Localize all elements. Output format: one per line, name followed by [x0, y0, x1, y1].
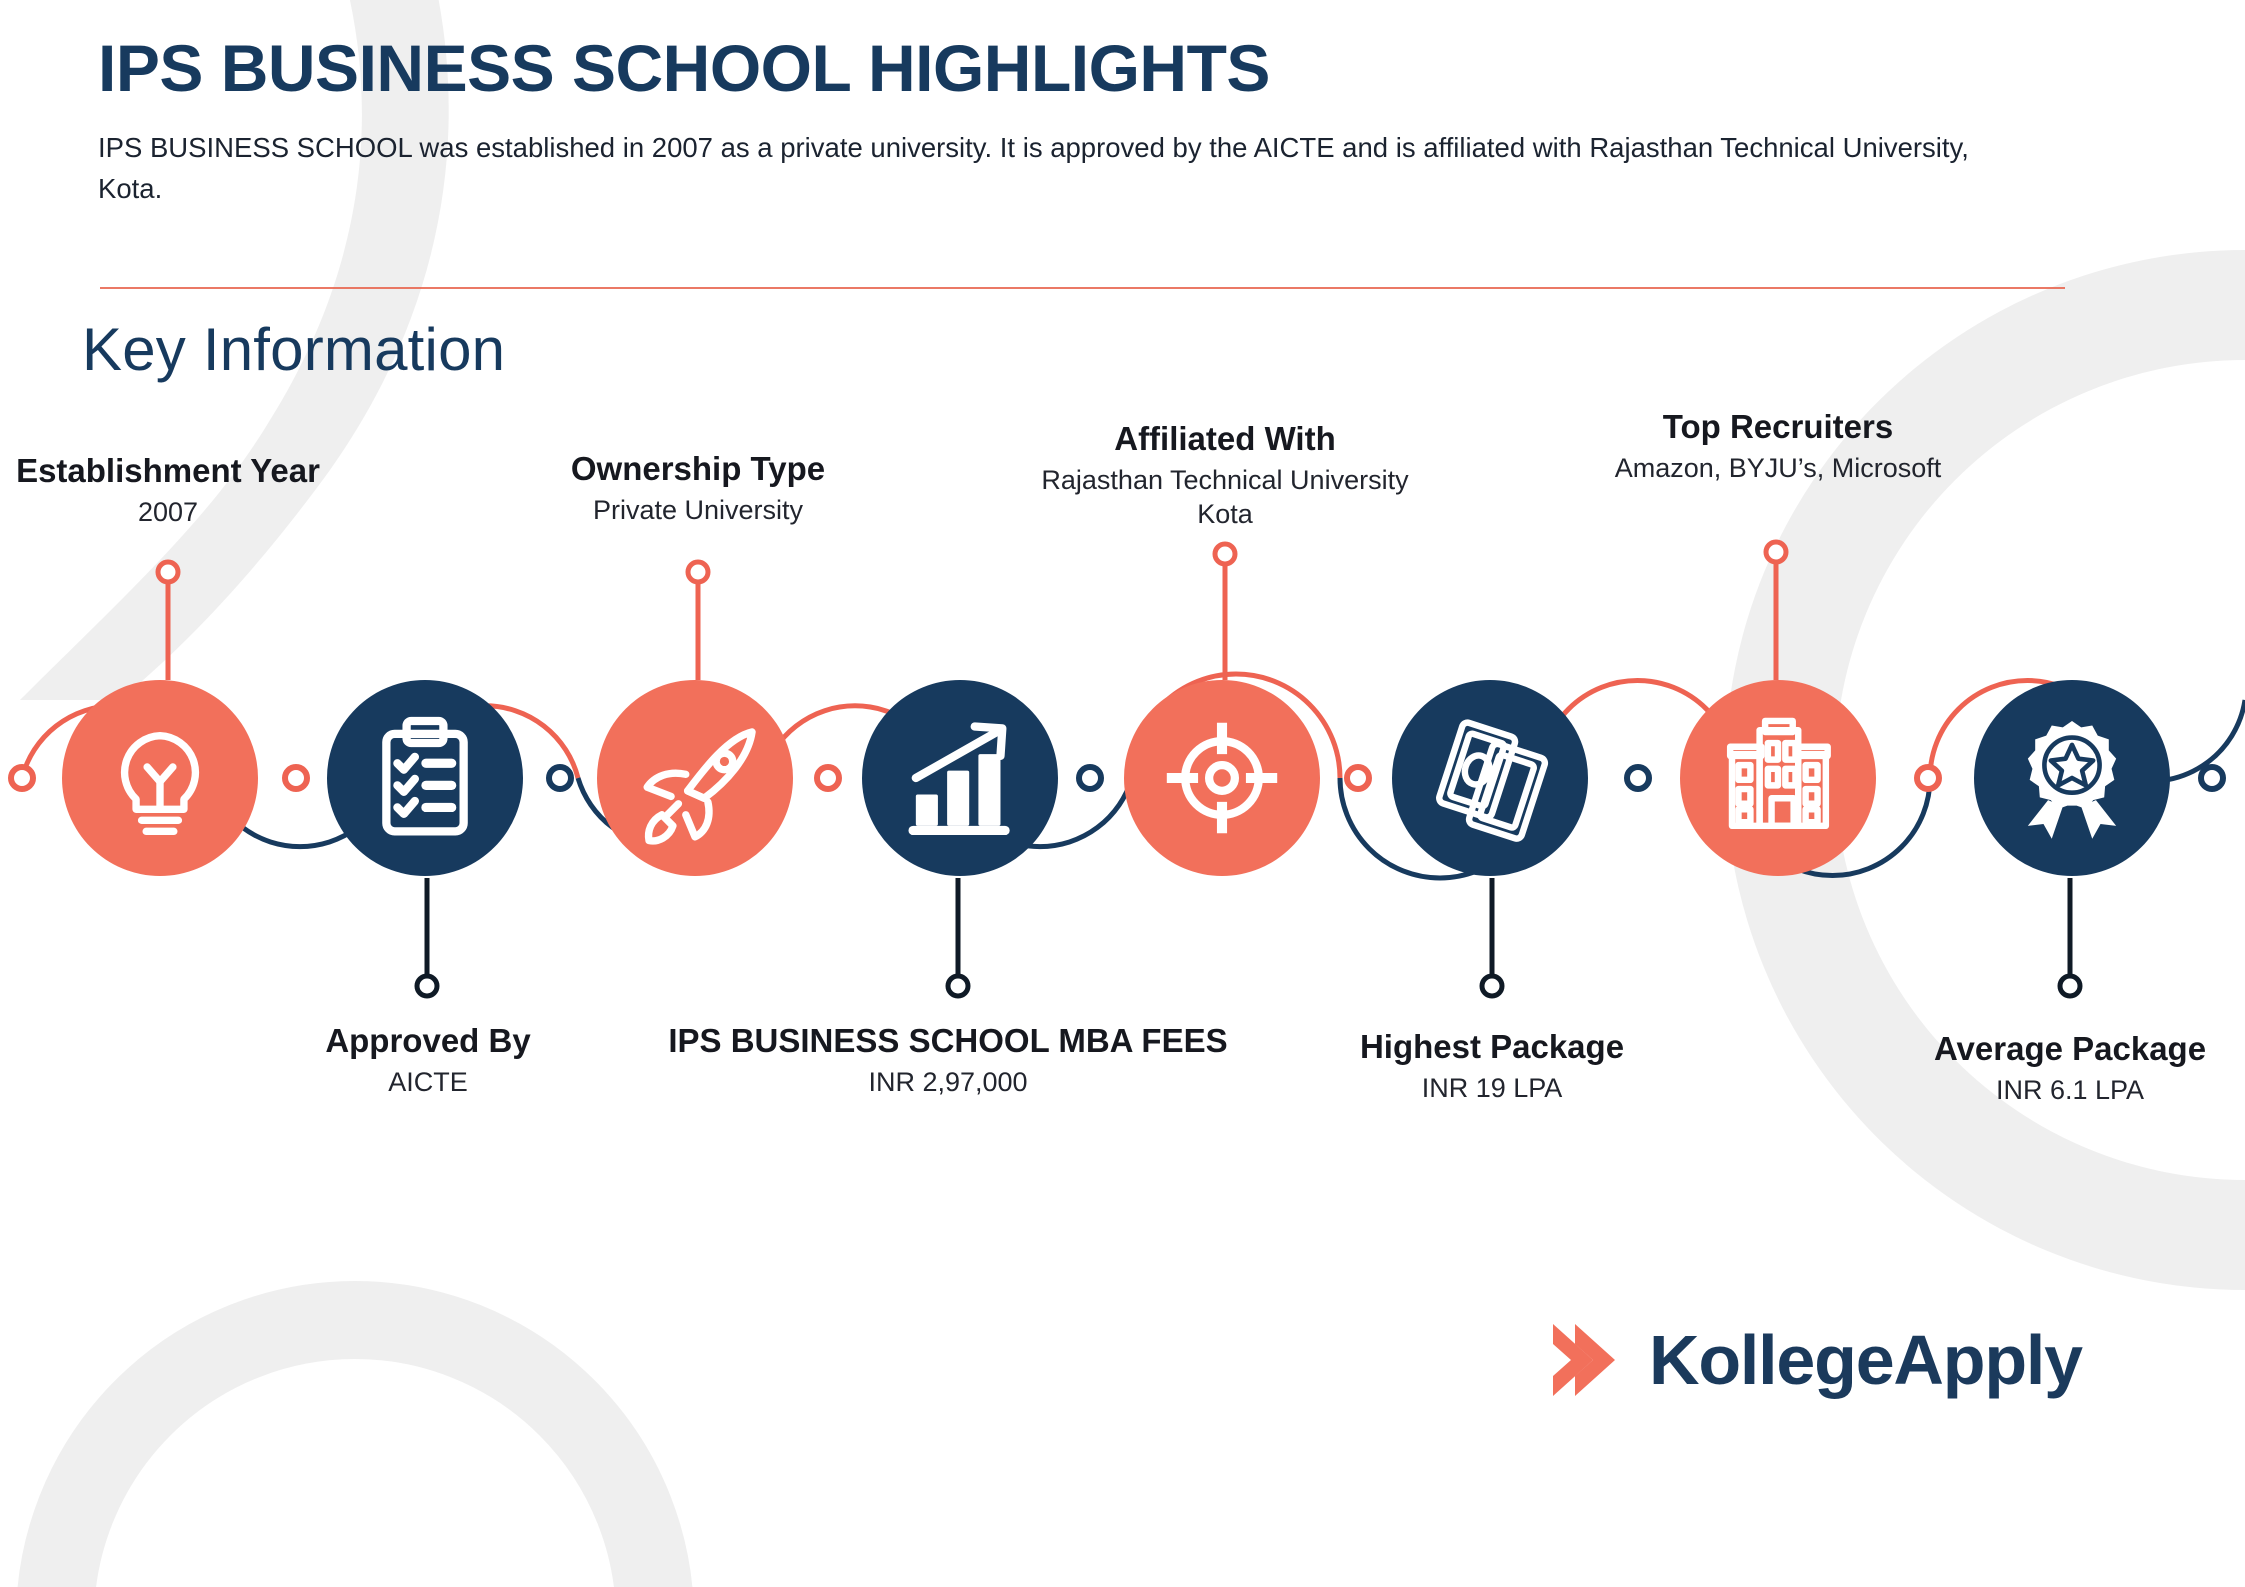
- node-dot: [285, 767, 307, 789]
- node-dot: [1347, 767, 1369, 789]
- label-title: Affiliated With: [965, 420, 1485, 458]
- stem-dot-down-4: [948, 976, 968, 996]
- label-value: 2007: [0, 497, 428, 528]
- label-value: Rajasthan Technical University: [965, 465, 1485, 496]
- label-mba-fees: IPS BUSINESS SCHOOL MBA FEES INR 2,97,00…: [638, 1022, 1258, 1098]
- label-top-recruiters: Top Recruiters Amazon, BYJU’s, Microsoft: [1518, 408, 2038, 484]
- label-average-package: Average Package INR 6.1 LPA: [1810, 1030, 2245, 1106]
- node-dot: [11, 767, 33, 789]
- double-chevron-icon: [1545, 1318, 1623, 1402]
- label-affiliated-with: Affiliated With Rajasthan Technical Univ…: [965, 420, 1485, 530]
- icon-disc-establishment-year[interactable]: [62, 680, 258, 876]
- target-disc: [1124, 680, 1320, 876]
- stem-dot-down-2: [417, 976, 437, 996]
- label-ownership-type: Ownership Type Private University: [438, 450, 958, 526]
- label-value: AICTE: [168, 1067, 688, 1098]
- icon-disc-highest-package[interactable]: [1392, 680, 1588, 876]
- label-value-line2: Kota: [965, 499, 1485, 530]
- page-subtitle: IPS BUSINESS SCHOOL was established in 2…: [98, 128, 2018, 209]
- label-value: INR 19 LPA: [1232, 1073, 1752, 1104]
- icon-disc-top-recruiters[interactable]: [1680, 680, 1876, 876]
- icon-disc-ownership-type[interactable]: [597, 680, 793, 876]
- label-value: Amazon, BYJU’s, Microsoft: [1518, 453, 2038, 484]
- logo-wordmark: KollegeApply: [1649, 1325, 2082, 1395]
- icon-disc-average-package[interactable]: [1974, 680, 2170, 876]
- stem-dot-up-7: [1766, 542, 1786, 562]
- stem-dot-down-6: [1482, 976, 1502, 996]
- icon-disc-affiliated-with[interactable]: [1124, 680, 1320, 876]
- label-value: INR 6.1 LPA: [1810, 1075, 2245, 1106]
- node-dot: [1627, 767, 1649, 789]
- kollegeapply-logo[interactable]: KollegeApply: [1545, 1318, 2082, 1402]
- icon-disc-mba-fees[interactable]: [862, 680, 1058, 876]
- label-highest-package: Highest Package INR 19 LPA: [1232, 1028, 1752, 1104]
- infographic-canvas: IPS BUSINESS SCHOOL HIGHLIGHTS IPS BUSIN…: [0, 0, 2245, 1587]
- stem-dot-up-3: [688, 562, 708, 582]
- stem-dot-down-8: [2060, 976, 2080, 996]
- label-value: INR 2,97,000: [638, 1067, 1258, 1098]
- label-value: Private University: [438, 495, 958, 526]
- divider-rule: [100, 287, 2065, 289]
- stem-dot-up-1: [158, 562, 178, 582]
- stem-dot-up-5: [1215, 544, 1235, 564]
- node-dot: [1079, 767, 1101, 789]
- node-dot: [549, 767, 571, 789]
- label-title: IPS BUSINESS SCHOOL MBA FEES: [638, 1022, 1258, 1060]
- node-dot: [1917, 767, 1939, 789]
- label-title: Highest Package: [1232, 1028, 1752, 1066]
- label-title: Top Recruiters: [1518, 408, 2038, 446]
- label-title: Establishment Year: [0, 452, 428, 490]
- label-title: Average Package: [1810, 1030, 2245, 1068]
- label-approved-by: Approved By AICTE: [168, 1022, 688, 1098]
- node-dot: [2201, 767, 2223, 789]
- section-heading: Key Information: [82, 315, 505, 384]
- page-title: IPS BUSINESS SCHOOL HIGHLIGHTS: [98, 32, 2098, 106]
- header-block: IPS BUSINESS SCHOOL HIGHLIGHTS IPS BUSIN…: [98, 32, 2098, 209]
- label-title: Ownership Type: [438, 450, 958, 488]
- label-establishment-year: Establishment Year 2007: [0, 452, 428, 528]
- icon-disc-approved-by[interactable]: [327, 680, 523, 876]
- clipboard-disc: [327, 680, 523, 876]
- node-dot: [817, 767, 839, 789]
- label-title: Approved By: [168, 1022, 688, 1060]
